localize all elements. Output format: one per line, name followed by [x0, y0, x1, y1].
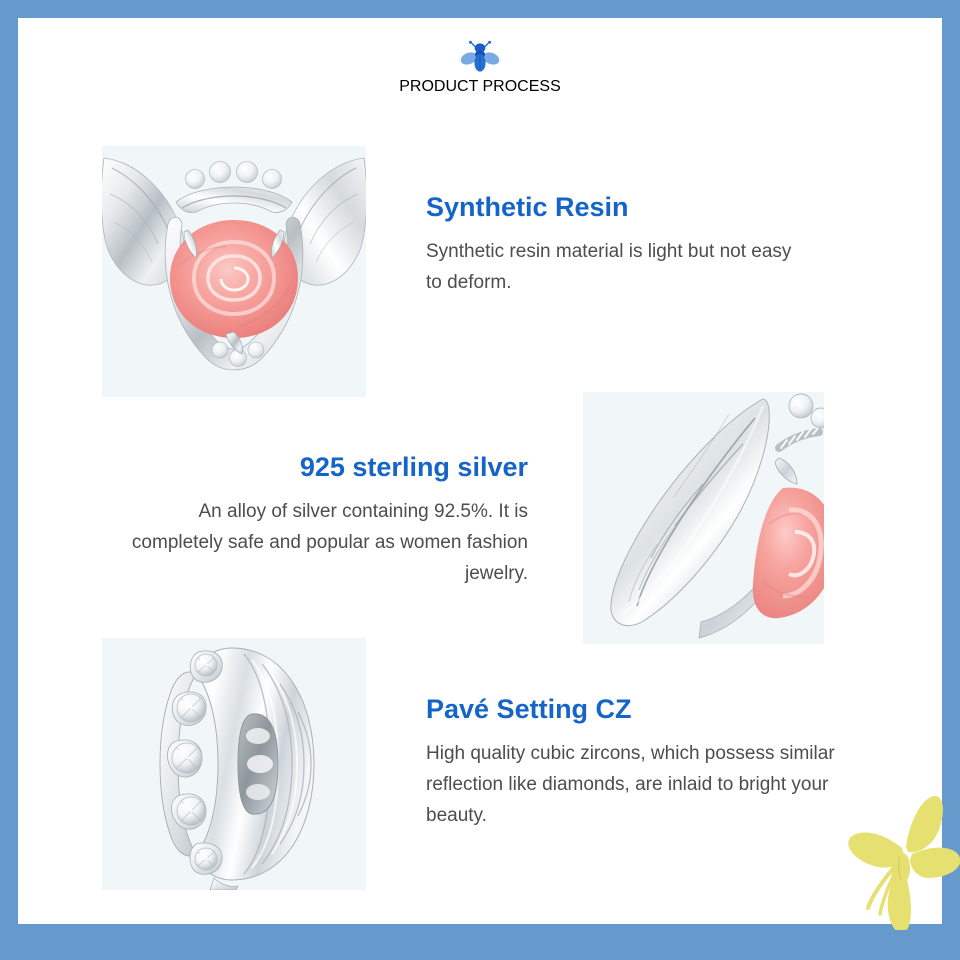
product-photo-sterling-silver	[583, 392, 824, 644]
page-title: PRODUCT PROCESS	[18, 78, 942, 96]
fly-icon	[460, 40, 500, 74]
product-photo-pave-setting	[102, 638, 366, 890]
pave-spacer-bead-illustration	[102, 638, 366, 890]
charm-with-resin-rose-illustration	[102, 146, 366, 397]
infographic-canvas: PRODUCT PROCESS	[0, 0, 960, 960]
header: PRODUCT PROCESS	[18, 40, 942, 96]
section-pave-setting-cz: Pavé Setting CZ High quality cubic zirco…	[426, 694, 851, 831]
content-panel: PRODUCT PROCESS	[18, 18, 942, 924]
product-photo-synthetic-resin	[102, 146, 366, 397]
section-heading-pave-setting-cz: Pavé Setting CZ	[426, 694, 851, 725]
section-body-sterling-silver: An alloy of silver containing 92.5%. It …	[128, 497, 528, 589]
section-heading-synthetic-resin: Synthetic Resin	[426, 192, 806, 223]
section-body-synthetic-resin: Synthetic resin material is light but no…	[426, 237, 806, 299]
section-heading-sterling-silver: 925 sterling silver	[128, 452, 528, 483]
section-synthetic-resin: Synthetic Resin Synthetic resin material…	[426, 192, 806, 299]
silver-wing-closeup-illustration	[583, 392, 824, 644]
section-body-pave-setting-cz: High quality cubic zircons, which posses…	[426, 739, 851, 831]
section-sterling-silver: 925 sterling silver An alloy of silver c…	[128, 452, 528, 589]
